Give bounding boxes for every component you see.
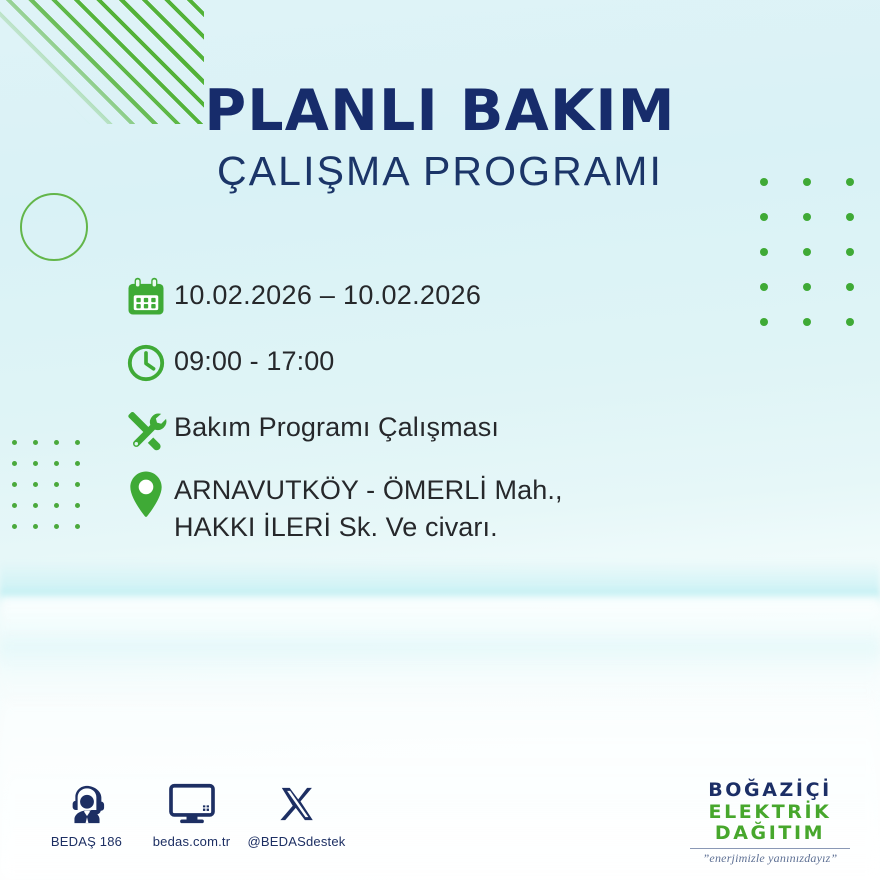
x-logo-icon [244,778,349,830]
contact-x-social[interactable]: @BEDASdestek [244,778,349,849]
maintenance-details: 10.02.2026 – 10.02.2026 09:00 - 17:00 [118,272,818,561]
brand-line-2: ELEKTRİK [682,802,858,824]
contact-website-label: bedas.com.tr [139,834,244,849]
circle-outline-decoration [20,193,88,261]
brand-divider [690,848,850,849]
poster-heading: PLANLI BAKIM ÇALIŞMA PROGRAMI [0,82,880,194]
planned-maintenance-poster: PLANLI BAKIM ÇALIŞMA PROGRAMI [0,0,880,880]
horizon-band-2 [0,596,880,666]
contact-channels: BEDAŞ 186 be [34,778,349,849]
dot-grid-decoration-left [12,440,96,545]
tools-icon [118,404,174,454]
clock-icon [118,338,174,388]
detail-row-time: 09:00 - 17:00 [118,338,818,388]
company-logo: BOĞAZİÇİ ELEKTRİK DAĞITIM ”enerjimizle y… [682,780,858,866]
date-range-value: 10.02.2026 – 10.02.2026 [174,272,481,314]
detail-row-work-type: Bakım Programı Çalışması [118,404,818,454]
contact-x-label: @BEDASdestek [244,834,349,849]
page-title: PLANLI BAKIM [0,82,880,142]
horizon-band-3 [0,640,880,720]
brand-line-1: BOĞAZİÇİ [682,780,858,802]
detail-row-date: 10.02.2026 – 10.02.2026 [118,272,818,322]
brand-line-3: DAĞITIM [682,823,858,845]
horizon-band-1 [0,560,880,606]
monitor-icon [139,778,244,830]
contact-website[interactable]: bedas.com.tr [139,778,244,849]
detail-row-location: ARNAVUTKÖY - ÖMERLİ Mah., HAKKI İLERİ Sk… [118,470,818,545]
page-subtitle: ÇALIŞMA PROGRAMI [0,149,880,194]
calendar-icon [118,272,174,322]
time-range-value: 09:00 - 17:00 [174,338,334,380]
contact-phone[interactable]: BEDAŞ 186 [34,778,139,849]
map-pin-icon [118,470,174,520]
support-agent-icon [34,778,139,830]
location-line-1: ARNAVUTKÖY - ÖMERLİ Mah., [174,475,563,505]
location-line-2: HAKKI İLERİ Sk. Ve civarı. [174,509,563,546]
location-value: ARNAVUTKÖY - ÖMERLİ Mah., HAKKI İLERİ Sk… [174,470,563,545]
contact-phone-label: BEDAŞ 186 [34,834,139,849]
poster-footer: BEDAŞ 186 be [0,778,880,880]
work-type-value: Bakım Programı Çalışması [174,404,499,446]
brand-tagline: ”enerjimizle yanınızdayız” [682,851,858,866]
